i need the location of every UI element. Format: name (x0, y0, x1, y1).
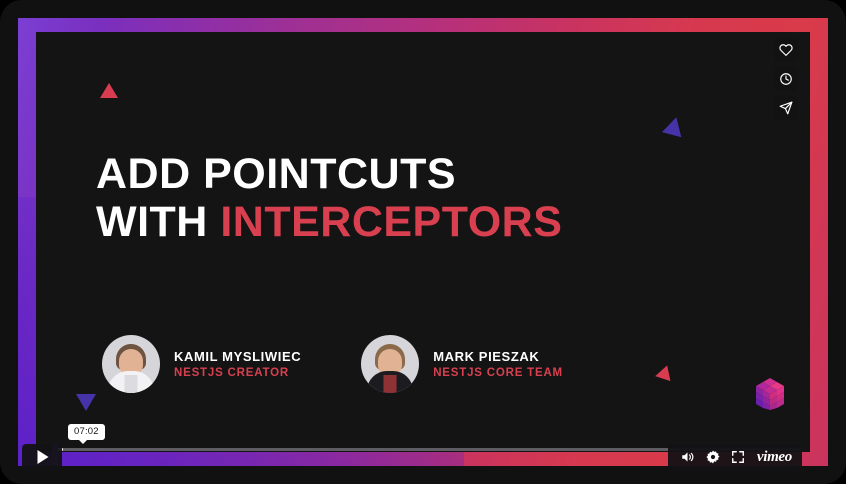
share-icon (779, 101, 793, 115)
avatar-collar (125, 375, 138, 393)
speaker-card: MARK PIESZAK NESTJS CORE TEAM (361, 335, 563, 393)
volume-button[interactable] (680, 450, 695, 464)
gear-icon (706, 450, 720, 464)
slide-title-line-2-plain: WITH (96, 198, 220, 246)
slide-title: ADD POINTCUTS WITH INTERCEPTORS (96, 150, 562, 246)
watch-later-button[interactable] (774, 67, 798, 91)
triangle-red-lower (655, 363, 675, 381)
slide-title-line-2-accent: INTERCEPTORS (220, 198, 562, 246)
speaker-text: KAMIL MYSLIWIEC NESTJS CREATOR (174, 349, 301, 379)
like-button[interactable] (774, 38, 798, 62)
player-controls: 07:02 (22, 444, 802, 470)
settings-button[interactable] (706, 450, 720, 464)
slide-title-line-1: ADD POINTCUTS (96, 150, 562, 198)
nestjs-cube-icon (756, 378, 784, 410)
time-tooltip: 07:02 (68, 424, 105, 440)
avatar-collar (384, 375, 397, 393)
slide-title-line-2: WITH INTERCEPTORS (96, 198, 562, 246)
nestjs-cube-logo (756, 378, 784, 410)
triangle-violet-right (662, 115, 686, 138)
video-slide-area[interactable]: ADD POINTCUTS WITH INTERCEPTORS KAMIL MY… (36, 32, 810, 452)
speaker-role: NESTJS CORE TEAM (433, 367, 563, 379)
video-player-frame: ADD POINTCUTS WITH INTERCEPTORS KAMIL MY… (0, 0, 846, 484)
volume-icon (680, 450, 695, 464)
speaker-card: KAMIL MYSLIWIEC NESTJS CREATOR (102, 335, 301, 393)
speakers-list: KAMIL MYSLIWIEC NESTJS CREATOR MARK PIES… (102, 335, 563, 393)
avatar-mark-pieszak (361, 335, 419, 393)
fullscreen-button[interactable] (731, 450, 745, 464)
speaker-role: NESTJS CREATOR (174, 367, 301, 379)
heart-icon (779, 43, 793, 57)
triangle-red-topleft (100, 83, 118, 98)
play-icon (36, 450, 49, 464)
action-buttons (774, 38, 798, 120)
speaker-text: MARK PIESZAK NESTJS CORE TEAM (433, 349, 563, 379)
play-button[interactable] (22, 444, 62, 470)
clock-icon (779, 72, 793, 86)
speaker-name: KAMIL MYSLIWIEC (174, 349, 301, 364)
fullscreen-icon (731, 450, 745, 464)
speaker-name: MARK PIESZAK (433, 349, 563, 364)
triangle-violet-bottomleft (76, 394, 96, 411)
share-button[interactable] (774, 96, 798, 120)
right-controls: vimeo (668, 444, 802, 470)
vimeo-logo[interactable]: vimeo (757, 450, 792, 465)
avatar-kamil-mysliwiec (102, 335, 160, 393)
